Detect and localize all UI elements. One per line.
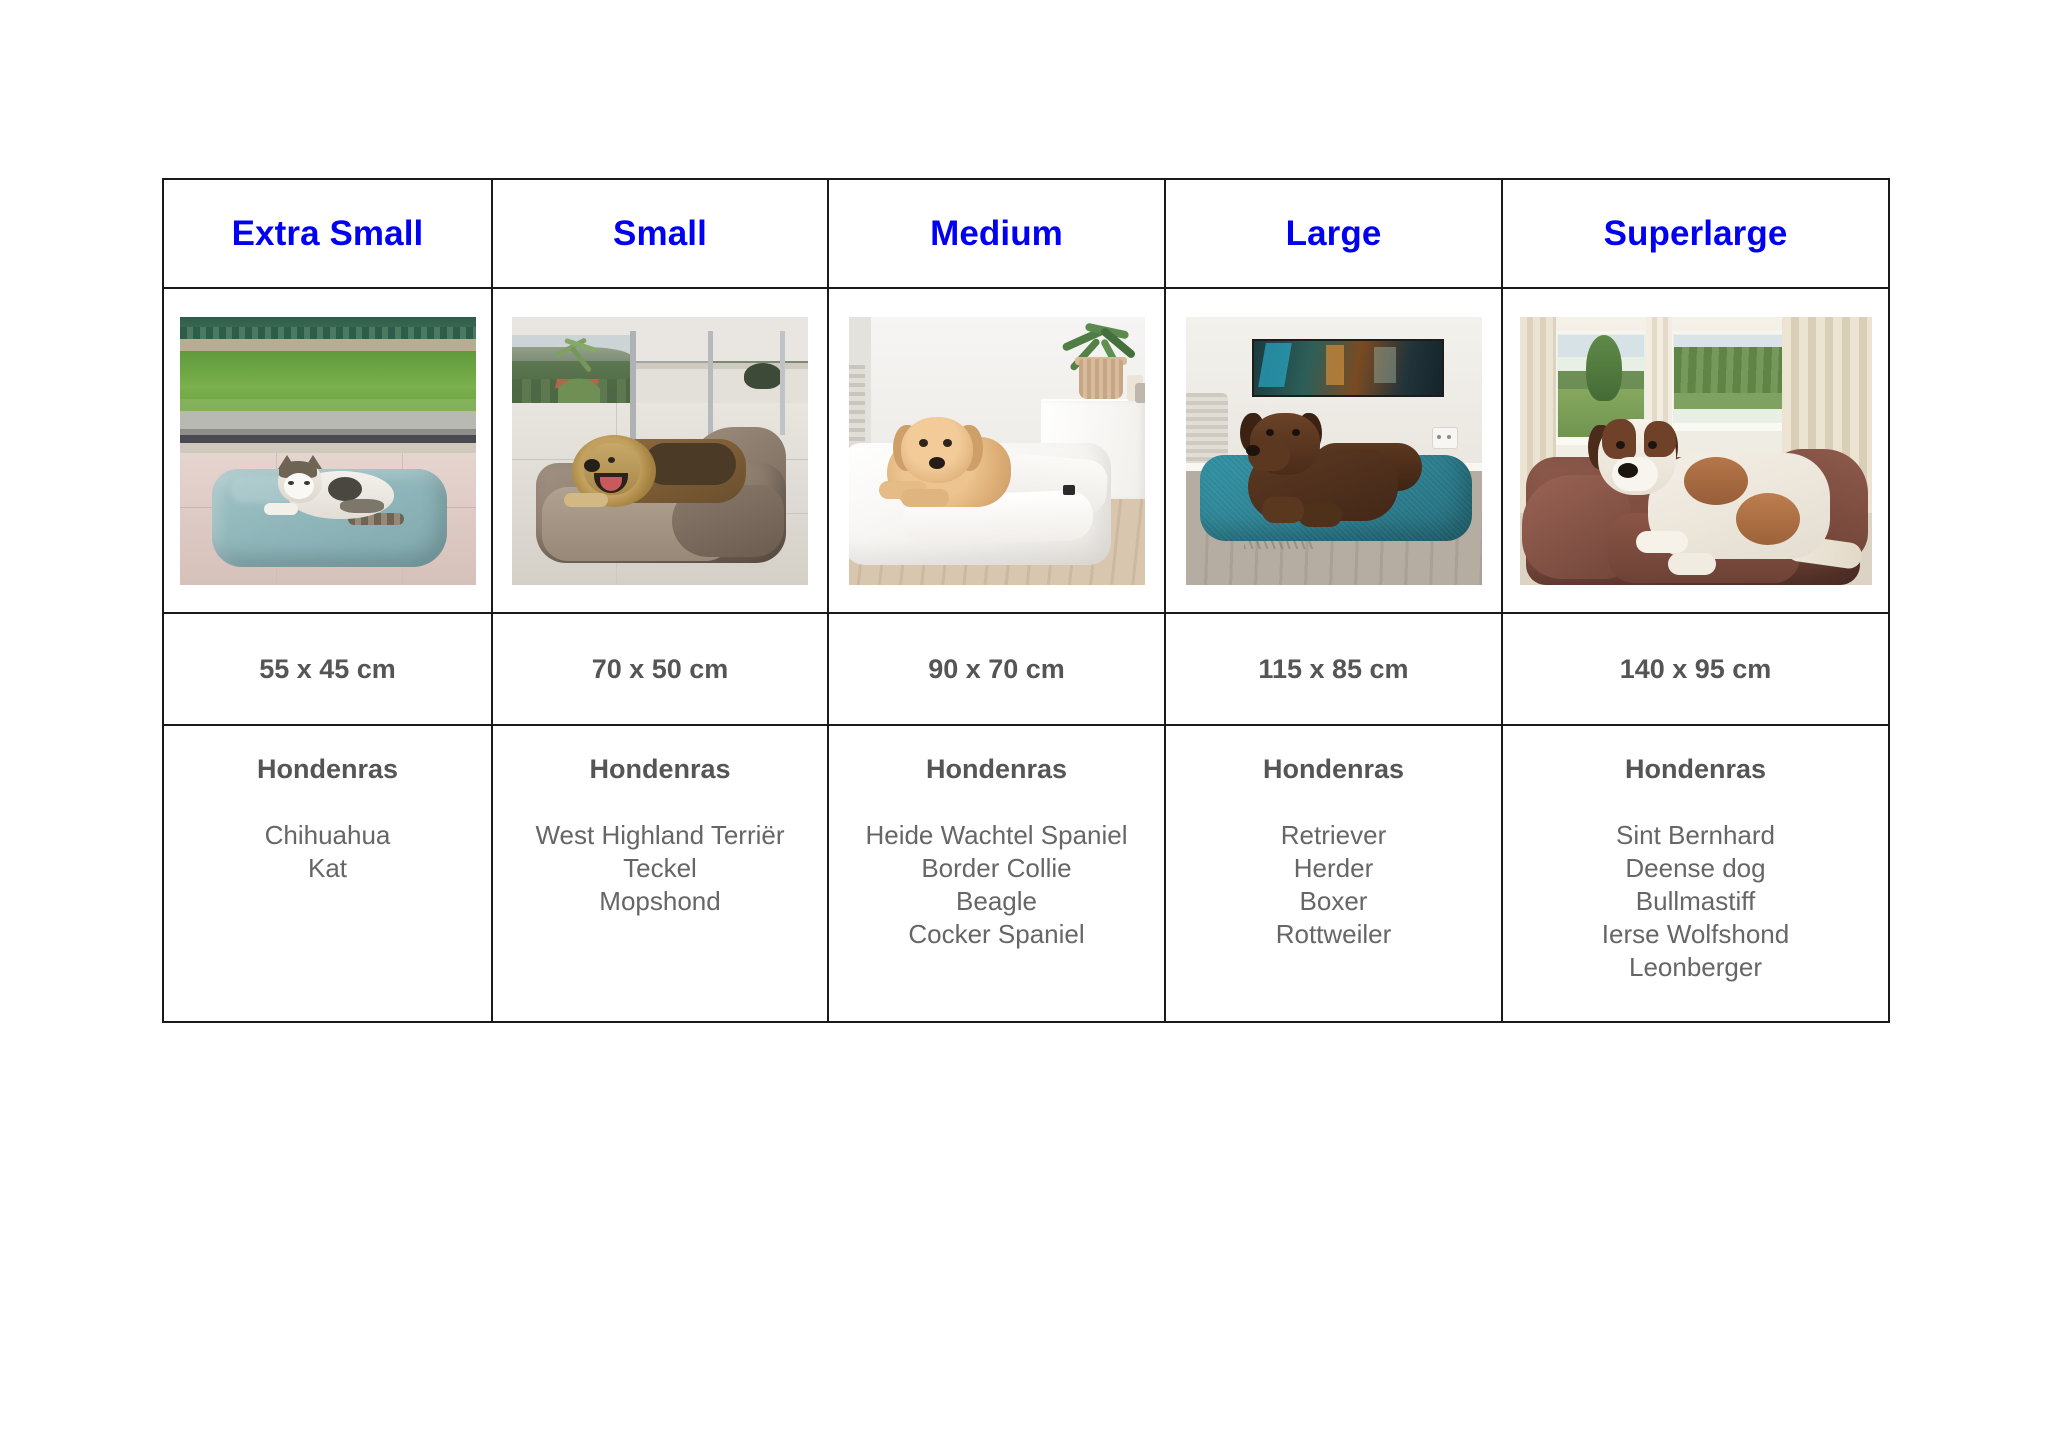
dog-paw-right	[1668, 553, 1716, 575]
header-cell-small: Small	[492, 179, 828, 288]
cat-patch-dark	[328, 477, 362, 501]
list-item: Teckel	[493, 852, 827, 885]
size-cell-superlarge: 140 x 95 cm	[1502, 613, 1889, 725]
dog-eye-right	[1648, 441, 1657, 449]
cat-patch-light	[340, 499, 384, 513]
window-mullion-3	[780, 331, 785, 435]
breed-heading: Hondenras	[1166, 756, 1501, 783]
breed-heading: Hondenras	[829, 756, 1164, 783]
dimensions-large: 115 x 85 cm	[1166, 656, 1501, 683]
size-cell-extra-small: 55 x 45 cm	[163, 613, 492, 725]
dog-paw-right	[901, 489, 949, 507]
tree-left	[1586, 335, 1622, 401]
dog-eye-right	[1292, 429, 1300, 436]
list-item: Retriever	[1166, 819, 1501, 852]
hedge-right-base	[1674, 393, 1782, 409]
list-item: Kat	[164, 852, 491, 885]
photo-cell-superlarge	[1502, 288, 1889, 613]
breed-cell-large: Hondenras Retriever Herder Boxer Rottwei…	[1165, 725, 1502, 1022]
table-photo-row	[163, 288, 1889, 613]
dog-patch-2	[1736, 493, 1800, 545]
list-item: Beagle	[829, 885, 1164, 918]
list-item: Leonberger	[1503, 951, 1888, 984]
photo-chocolate-labrador-on-teal-dog-bed	[1186, 317, 1482, 585]
size-name-medium: Medium	[829, 216, 1164, 251]
photo-cell-extra-small	[163, 288, 492, 613]
dog-nose	[929, 457, 945, 469]
list-item: Rottweiler	[1166, 918, 1501, 951]
header-cell-extra-small: Extra Small	[163, 179, 492, 288]
breed-block-medium: Hondenras Heide Wachtel Spaniel Border C…	[829, 726, 1164, 951]
breed-heading: Hondenras	[1503, 756, 1888, 783]
breed-list-superlarge: Sint Bernhard Deense dog Bullmastiff Ier…	[1503, 819, 1888, 984]
candle-2	[1135, 383, 1145, 403]
size-name-large: Large	[1166, 216, 1501, 251]
size-name-extra-small: Extra Small	[164, 216, 491, 251]
dog-nose	[1618, 463, 1638, 478]
list-item: Ierse Wolfshond	[1503, 918, 1888, 951]
photo-wrap-extra-small	[164, 289, 491, 612]
cat-paw	[264, 503, 298, 515]
cat-face	[284, 473, 314, 499]
basket-pot	[1079, 359, 1123, 399]
dimensions-medium: 90 x 70 cm	[829, 656, 1164, 683]
photo-cell-large	[1165, 288, 1502, 613]
breed-list-medium: Heide Wachtel Spaniel Border Collie Beag…	[829, 819, 1164, 951]
breed-list-small: West Highland Terriër Teckel Mopshond	[493, 819, 827, 918]
dog-eye-left	[1616, 441, 1625, 449]
size-cell-medium: 90 x 70 cm	[828, 613, 1165, 725]
list-item: Mopshond	[493, 885, 827, 918]
bed-label-tag	[1063, 485, 1075, 495]
list-item: Heide Wachtel Spaniel	[829, 819, 1164, 852]
breed-list-large: Retriever Herder Boxer Rottweiler	[1166, 819, 1501, 951]
dog-leg-right	[1298, 503, 1342, 527]
dog-bed-size-table: Extra Small Small Medium Large Superlarg…	[162, 178, 1890, 1023]
size-name-superlarge: Superlarge	[1503, 216, 1888, 251]
table-breed-row: Hondenras Chihuahua Kat Hondenras West H…	[163, 725, 1889, 1022]
list-item: Border Collie	[829, 852, 1164, 885]
dog-leg-left	[1262, 497, 1304, 523]
socket-hole-right	[1447, 435, 1451, 439]
breed-block-superlarge: Hondenras Sint Bernhard Deense dog Bullm…	[1503, 726, 1888, 984]
dog-paw	[564, 493, 608, 507]
size-name-small: Small	[493, 216, 827, 251]
list-item: Deense dog	[1503, 852, 1888, 885]
dog-eye-left	[1266, 429, 1274, 436]
dimensions-small: 70 x 50 cm	[493, 656, 827, 683]
photo-cell-small	[492, 288, 828, 613]
artwork-shape-2	[1326, 345, 1344, 385]
dog-nose	[1246, 445, 1260, 456]
photo-wrap-medium	[829, 289, 1164, 612]
dog-mask-right	[1644, 421, 1676, 457]
size-cell-large: 115 x 85 cm	[1165, 613, 1502, 725]
cat-eye-right	[304, 481, 310, 485]
photo-saint-bernard-on-brown-dog-bed	[1520, 317, 1872, 585]
breed-cell-medium: Hondenras Heide Wachtel Spaniel Border C…	[828, 725, 1165, 1022]
dog-paw-left	[1636, 531, 1688, 553]
dimensions-superlarge: 140 x 95 cm	[1503, 656, 1888, 683]
photo-wrap-large	[1166, 289, 1501, 612]
breed-cell-extra-small: Hondenras Chihuahua Kat	[163, 725, 492, 1022]
photo-cat-on-light-blue-dog-bed	[180, 317, 476, 585]
header-cell-large: Large	[1165, 179, 1502, 288]
terrace-plant	[744, 363, 782, 389]
photo-cockapoo-on-white-dog-bed	[849, 317, 1145, 585]
size-cell-small: 70 x 50 cm	[492, 613, 828, 725]
list-item: Sint Bernhard	[1503, 819, 1888, 852]
breed-heading: Hondenras	[493, 756, 827, 783]
list-item: Bullmastiff	[1503, 885, 1888, 918]
dog-head	[901, 417, 973, 483]
artwork-shape-3	[1374, 347, 1396, 383]
document-page: Extra Small Small Medium Large Superlarg…	[0, 0, 2048, 1448]
dog-mask-left	[1602, 419, 1636, 459]
photo-terrier-on-brown-leather-dog-bed	[512, 317, 808, 585]
photo-cell-medium	[828, 288, 1165, 613]
list-item: Herder	[1166, 852, 1501, 885]
photo-wrap-superlarge	[1503, 289, 1888, 612]
breed-block-small: Hondenras West Highland Terriër Teckel M…	[493, 726, 827, 918]
list-item: Cocker Spaniel	[829, 918, 1164, 951]
dog-nose	[584, 459, 600, 472]
dog-patch-1	[1684, 457, 1748, 505]
dog-eye-right	[943, 439, 952, 447]
header-cell-medium: Medium	[828, 179, 1165, 288]
list-item: West Highland Terriër	[493, 819, 827, 852]
wall-socket	[1432, 427, 1458, 449]
socket-hole-left	[1437, 435, 1441, 439]
dog-eye	[608, 457, 615, 463]
dimensions-extra-small: 55 x 45 cm	[164, 656, 491, 683]
breed-heading: Hondenras	[164, 756, 491, 783]
list-item: Chihuahua	[164, 819, 491, 852]
breed-cell-small: Hondenras West Highland Terriër Teckel M…	[492, 725, 828, 1022]
breed-block-large: Hondenras Retriever Herder Boxer Rottwei…	[1166, 726, 1501, 951]
table-size-row: 55 x 45 cm 70 x 50 cm 90 x 70 cm 115 x 8…	[163, 613, 1889, 725]
cat-eye-left	[288, 481, 294, 485]
header-cell-superlarge: Superlarge	[1502, 179, 1889, 288]
breed-list-extra-small: Chihuahua Kat	[164, 819, 491, 885]
breed-block-extra-small: Hondenras Chihuahua Kat	[164, 726, 491, 885]
dog-eye-left	[919, 439, 928, 447]
dog-saddle-marking	[644, 443, 736, 485]
list-item: Boxer	[1166, 885, 1501, 918]
breed-cell-superlarge: Hondenras Sint Bernhard Deense dog Bullm…	[1502, 725, 1889, 1022]
table-header-row: Extra Small Small Medium Large Superlarg…	[163, 179, 1889, 288]
photo-wrap-small	[493, 289, 827, 612]
